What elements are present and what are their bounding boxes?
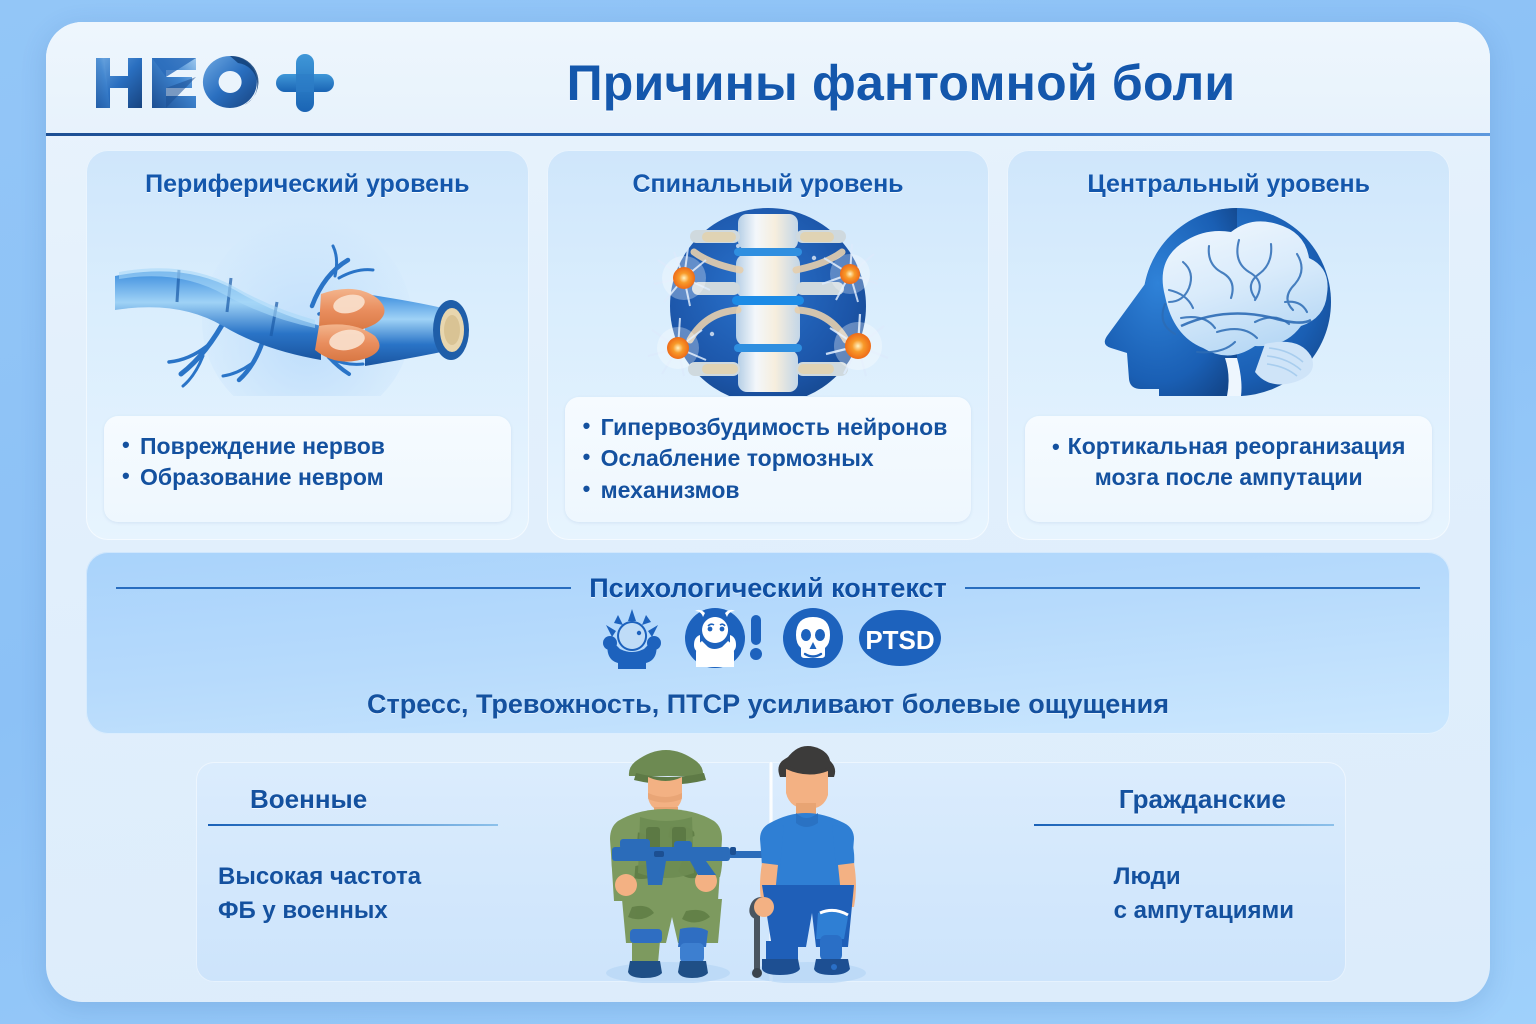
psychological-context-caption: Стресс, Тревожность, ПТСР усиливают боле…	[86, 689, 1450, 720]
psychological-icon-row: PTSD	[86, 608, 1450, 672]
ptsd-badge-label: PTSD	[865, 625, 934, 655]
civilian-figure	[696, 735, 916, 988]
group-description: Высокая частота ФБ у военных	[218, 860, 421, 927]
psychological-context-heading: Психологический контекст	[589, 573, 946, 604]
stress-head-icon	[594, 607, 670, 674]
card-title: Спинальный уровень	[547, 170, 990, 199]
list-item-continuation: мозга после ампутации	[1041, 462, 1416, 492]
group-divider-rule	[208, 824, 498, 826]
list-item: Ослабление тормозных	[581, 443, 956, 473]
population-groups: Военные Высокая частота ФБ у военных	[196, 762, 1346, 982]
spinal-neurons-icon	[547, 206, 990, 396]
card-bullet-list: Кортикальная реорганизация мозга после а…	[1025, 416, 1432, 522]
card-title: Периферический уровень	[86, 170, 529, 199]
group-civilian[interactable]: Гражданские Люди с ампутациями	[772, 762, 1346, 982]
list-item-continuation: механизмов	[581, 475, 956, 505]
neo-plus-logo	[90, 52, 340, 114]
group-description: Люди с ампутациями	[1114, 860, 1294, 927]
ptsd-badge-icon: PTSD	[858, 609, 942, 672]
anxiety-exclamation-icon	[684, 607, 768, 674]
page-title: Причины фантомной боли	[356, 50, 1446, 116]
heading-rule-right	[965, 587, 1420, 589]
group-divider-rule	[1034, 824, 1334, 826]
card-bullet-list: Повреждение нервов Образование невром	[104, 416, 511, 522]
list-item: Гипервозбудимость нейронов	[581, 412, 956, 442]
brain-head-icon	[1007, 206, 1450, 396]
card-spinal-level[interactable]: Спинальный уровень	[547, 150, 990, 540]
level-cards: Периферический уровень	[86, 150, 1450, 540]
psychological-context-panel: Психологический контекст	[86, 552, 1450, 734]
group-title: Гражданские	[1119, 784, 1286, 815]
list-item: Образование невром	[120, 462, 495, 492]
group-military[interactable]: Военные Высокая частота ФБ у военных	[196, 762, 770, 982]
card-central-level[interactable]: Центральный уровень	[1007, 150, 1450, 540]
list-item: Кортикальная реорганизация	[1041, 431, 1416, 461]
psychological-context-heading-row: Психологический контекст	[86, 568, 1450, 608]
nerve-damage-icon	[86, 206, 529, 396]
infographic-poster: Причины фантомной боли Периферический ур…	[46, 22, 1490, 1002]
header-bar: Причины фантомной боли	[46, 22, 1490, 134]
card-bullet-list: Гипервозбудимость нейронов Ослабление то…	[565, 397, 972, 522]
list-item: Повреждение нервов	[120, 431, 495, 461]
skull-icon	[782, 607, 844, 674]
heading-rule-left	[116, 587, 571, 589]
card-title: Центральный уровень	[1007, 170, 1450, 199]
header-divider	[46, 133, 1490, 136]
group-title: Военные	[250, 784, 367, 815]
card-peripheral-level[interactable]: Периферический уровень	[86, 150, 529, 540]
